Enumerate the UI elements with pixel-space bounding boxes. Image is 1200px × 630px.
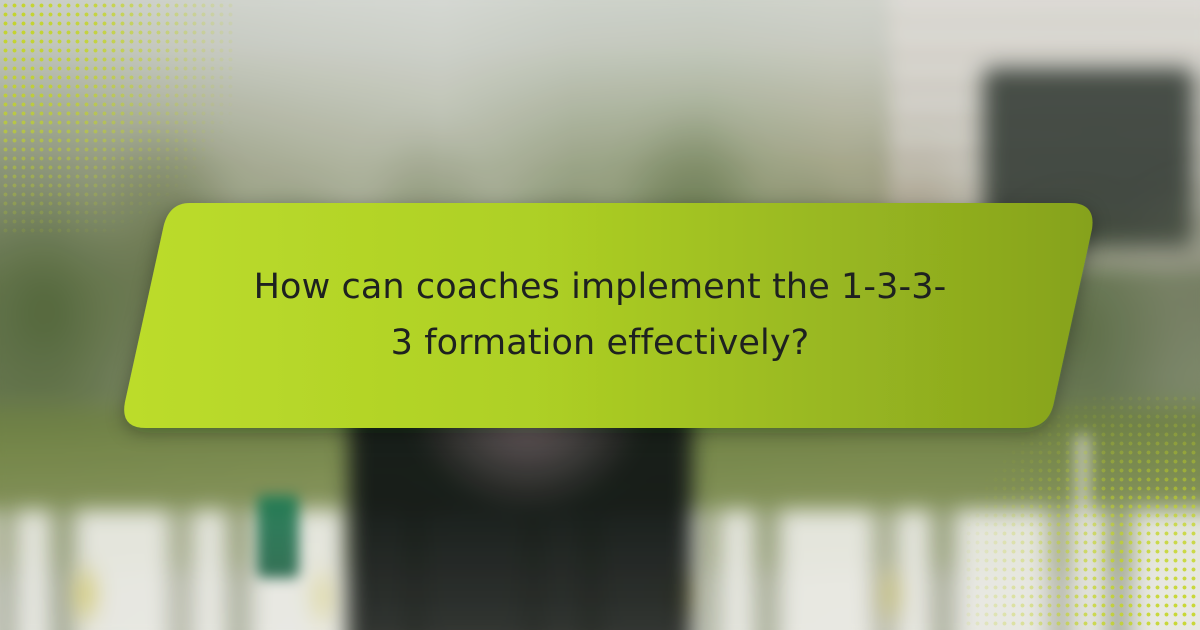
question-card: How can coaches implement the 1-3-3-3 fo…	[0, 0, 1200, 630]
social-card-canvas: How can coaches implement the 1-3-3-3 fo…	[0, 0, 1200, 630]
question-text-container: How can coaches implement the 1-3-3-3 fo…	[150, 203, 1050, 428]
question-text: How can coaches implement the 1-3-3-3 fo…	[250, 260, 950, 371]
